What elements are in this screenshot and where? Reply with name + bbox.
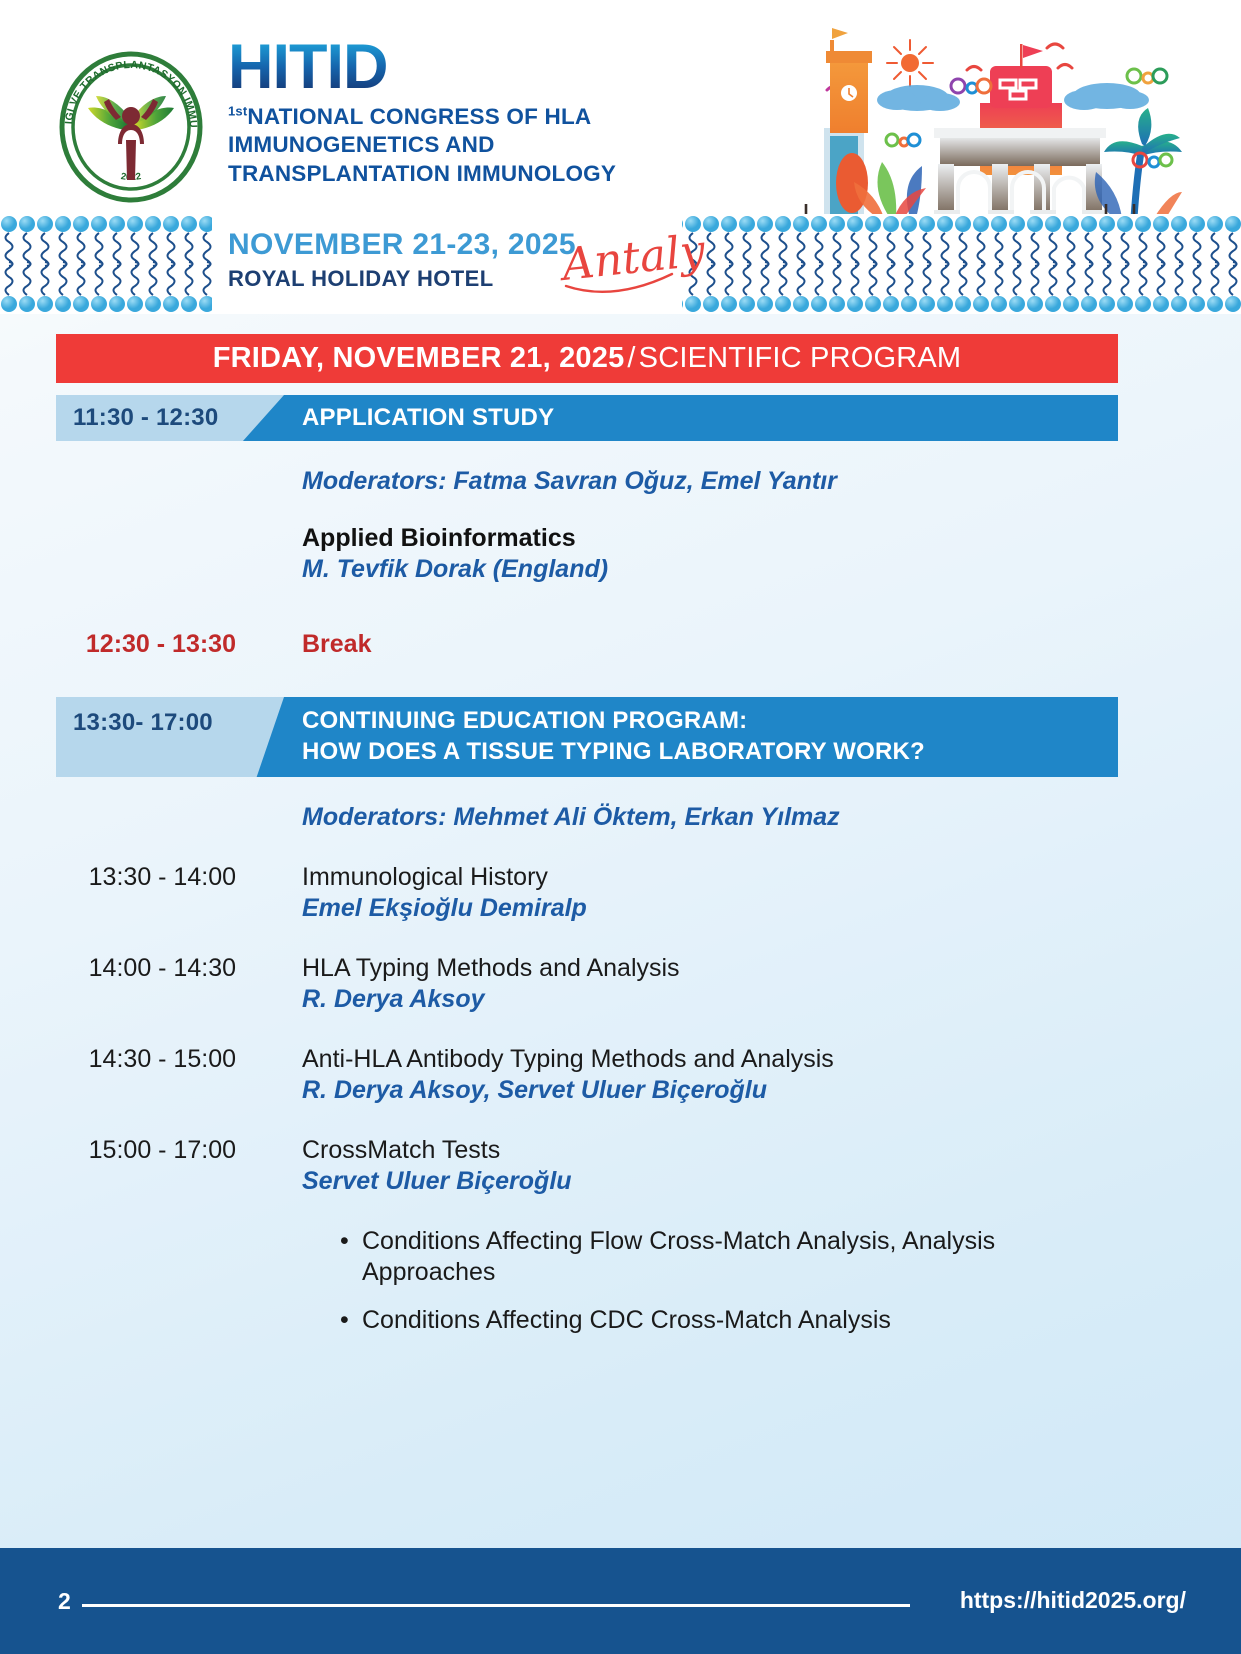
break-label: Break <box>302 630 372 659</box>
congress-title-block: HITID 1stNATIONAL CONGRESS OF HLA IMMUNO… <box>228 38 748 189</box>
day-banner-separator: / <box>627 342 635 375</box>
page-footer: 2 https://hitid2025.org/ <box>0 1548 1241 1654</box>
bullet-dot-icon: • <box>340 1305 362 1336</box>
row-time: 14:30 - 15:00 <box>0 1044 236 1105</box>
session-title-line-2: HOW DOES A TISSUE TYPING LABORATORY WORK… <box>302 737 1108 768</box>
row-body: Immunological History Emel Ekşioğlu Demi… <box>302 862 587 923</box>
session-title-line-1: CONTINUING EDUCATION PROGRAM: <box>302 706 1108 737</box>
svg-text:HITID: HITID <box>139 145 149 175</box>
session-header-application-study: 11:30 - 12:30 APPLICATION STUDY <box>56 395 1118 441</box>
bullet-text: Conditions Affecting CDC Cross-Match Ana… <box>362 1305 891 1336</box>
row-time: 15:00 - 17:00 <box>0 1135 236 1196</box>
row-speaker: R. Derya Aksoy <box>302 985 680 1014</box>
program-page: HLA IMMUNOGENETIĞİ VE TRANSPLANTASYON IM… <box>0 0 1241 1654</box>
session-title-line-1: APPLICATION STUDY <box>302 403 1108 434</box>
row-title: Anti-HLA Antibody Typing Methods and Ana… <box>302 1044 834 1074</box>
talk-speaker: M. Tevfik Dorak (England) <box>302 555 1241 584</box>
row-speaker: Servet Uluer Biçeroğlu <box>302 1167 572 1196</box>
row-body: Anti-HLA Antibody Typing Methods and Ana… <box>302 1044 834 1105</box>
page-number: 2 <box>58 1588 71 1615</box>
bullet-dot-icon: • <box>340 1226 362 1287</box>
break-row: 12:30 - 13:30 Break <box>0 630 1241 659</box>
list-item: • Conditions Affecting CDC Cross-Match A… <box>340 1305 1241 1336</box>
row-speaker: Emel Ekşioğlu Demiralp <box>302 894 587 923</box>
session-moderators: Moderators: Fatma Savran Oğuz, Emel Yant… <box>302 467 1241 496</box>
antalya-landmarks-illustration <box>762 18 1182 223</box>
bullet-text: Conditions Affecting Flow Cross-Match An… <box>362 1226 1022 1287</box>
program-row: 14:30 - 15:00 Anti-HLA Antibody Typing M… <box>0 1044 1241 1105</box>
program-row: 13:30 - 14:00 Immunological History Emel… <box>0 862 1241 923</box>
congress-line-1: NATIONAL CONGRESS OF HLA <box>247 104 591 129</box>
ordinal-suffix: 1st <box>228 103 247 118</box>
session-moderators: Moderators: Mehmet Ali Öktem, Erkan Yılm… <box>302 803 1241 832</box>
row-speaker: R. Derya Aksoy, Servet Uluer Biçeroğlu <box>302 1076 834 1105</box>
day-banner-program: SCIENTIFIC PROGRAM <box>639 342 962 375</box>
session-time-text: 11:30 - 12:30 <box>73 404 218 432</box>
row-time: 13:30 - 14:00 <box>0 862 236 923</box>
day-banner: FRIDAY, NOVEMBER 21, 2025 / SCIENTIFIC P… <box>56 334 1118 383</box>
program-row: 14:00 - 14:30 HLA Typing Methods and Ana… <box>0 953 1241 1014</box>
antalya-script-text: Antalya <box>560 223 705 292</box>
session-title: CONTINUING EDUCATION PROGRAM: HOW DOES A… <box>302 697 1108 777</box>
congress-line-2: IMMUNOGENETICS AND <box>228 131 748 160</box>
list-item: • Conditions Affecting Flow Cross-Match … <box>340 1226 1241 1287</box>
day-banner-date: FRIDAY, NOVEMBER 21, 2025 <box>213 342 625 375</box>
subtopic-list: • Conditions Affecting Flow Cross-Match … <box>340 1226 1241 1336</box>
scientific-program: 11:30 - 12:30 APPLICATION STUDY Moderato… <box>0 395 1241 1354</box>
session-time-badge: 13:30- 17:00 <box>56 697 284 777</box>
row-title: CrossMatch Tests <box>302 1135 572 1165</box>
page-header: HLA IMMUNOGENETIĞİ VE TRANSPLANTASYON IM… <box>0 0 1241 215</box>
congress-website-url[interactable]: https://hitid2025.org/ <box>960 1587 1186 1614</box>
break-time: 12:30 - 13:30 <box>0 630 236 659</box>
row-time: 14:00 - 14:30 <box>0 953 236 1014</box>
brand-wordmark: HITID <box>228 38 748 98</box>
congress-dates: NOVEMBER 21-23, 2025 <box>228 228 576 262</box>
congress-subtitle: 1stNATIONAL CONGRESS OF HLA IMMUNOGENETI… <box>228 103 748 189</box>
program-row: 15:00 - 17:00 CrossMatch Tests Servet Ul… <box>0 1135 1241 1196</box>
row-body: CrossMatch Tests Servet Uluer Biçeroğlu <box>302 1135 572 1196</box>
footer-divider <box>82 1604 910 1607</box>
row-body: HLA Typing Methods and Analysis R. Derya… <box>302 953 680 1014</box>
talk-title: Applied Bioinformatics <box>302 524 1241 553</box>
row-title: HLA Typing Methods and Analysis <box>302 953 680 983</box>
congress-line-3: TRANSPLANTATION IMMUNOLOGY <box>228 160 748 189</box>
hitid-association-logo: HLA IMMUNOGENETIĞİ VE TRANSPLANTASYON IM… <box>52 48 210 206</box>
congress-venue: ROYAL HOLIDAY HOTEL <box>228 266 494 292</box>
antalya-script-logo: Antalya <box>560 222 705 304</box>
row-title: Immunological History <box>302 862 587 892</box>
session-header-continuing-education: 13:30- 17:00 CONTINUING EDUCATION PROGRA… <box>56 697 1118 777</box>
session-title: APPLICATION STUDY <box>302 395 1108 441</box>
session-time-text: 13:30- 17:00 <box>73 709 213 737</box>
